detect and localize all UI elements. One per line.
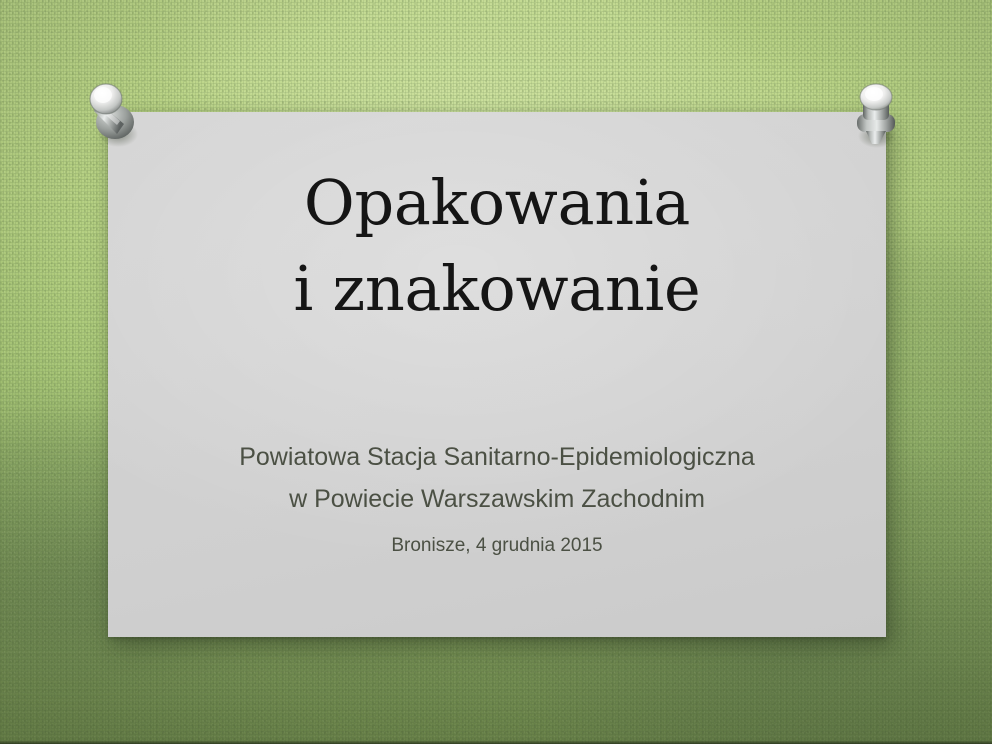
subtitle: Powiatowa Stacja Sanitarno-Epidemiologic… <box>108 436 886 520</box>
page-title-line-1: Opakowania <box>108 160 886 246</box>
subtitle-line-1: Powiatowa Stacja Sanitarno-Epidemiologic… <box>108 436 886 478</box>
presentation-slide: Opakowania i znakowanie Powiatowa Stacja… <box>0 0 992 744</box>
date-line: Bronisze, 4 grudnia 2015 <box>108 535 886 557</box>
page-title-line-2: i znakowanie <box>108 246 886 332</box>
pushpin-left-icon <box>84 78 146 152</box>
slide-panel-content: Opakowania i znakowanie Powiatowa Stacja… <box>108 112 886 637</box>
pushpin-right-icon <box>846 78 908 152</box>
subtitle-line-2: w Powiecie Warszawskim Zachodnim <box>108 478 886 520</box>
page-title: Opakowania i znakowanie <box>108 160 886 331</box>
slide-panel: Opakowania i znakowanie Powiatowa Stacja… <box>108 112 886 637</box>
